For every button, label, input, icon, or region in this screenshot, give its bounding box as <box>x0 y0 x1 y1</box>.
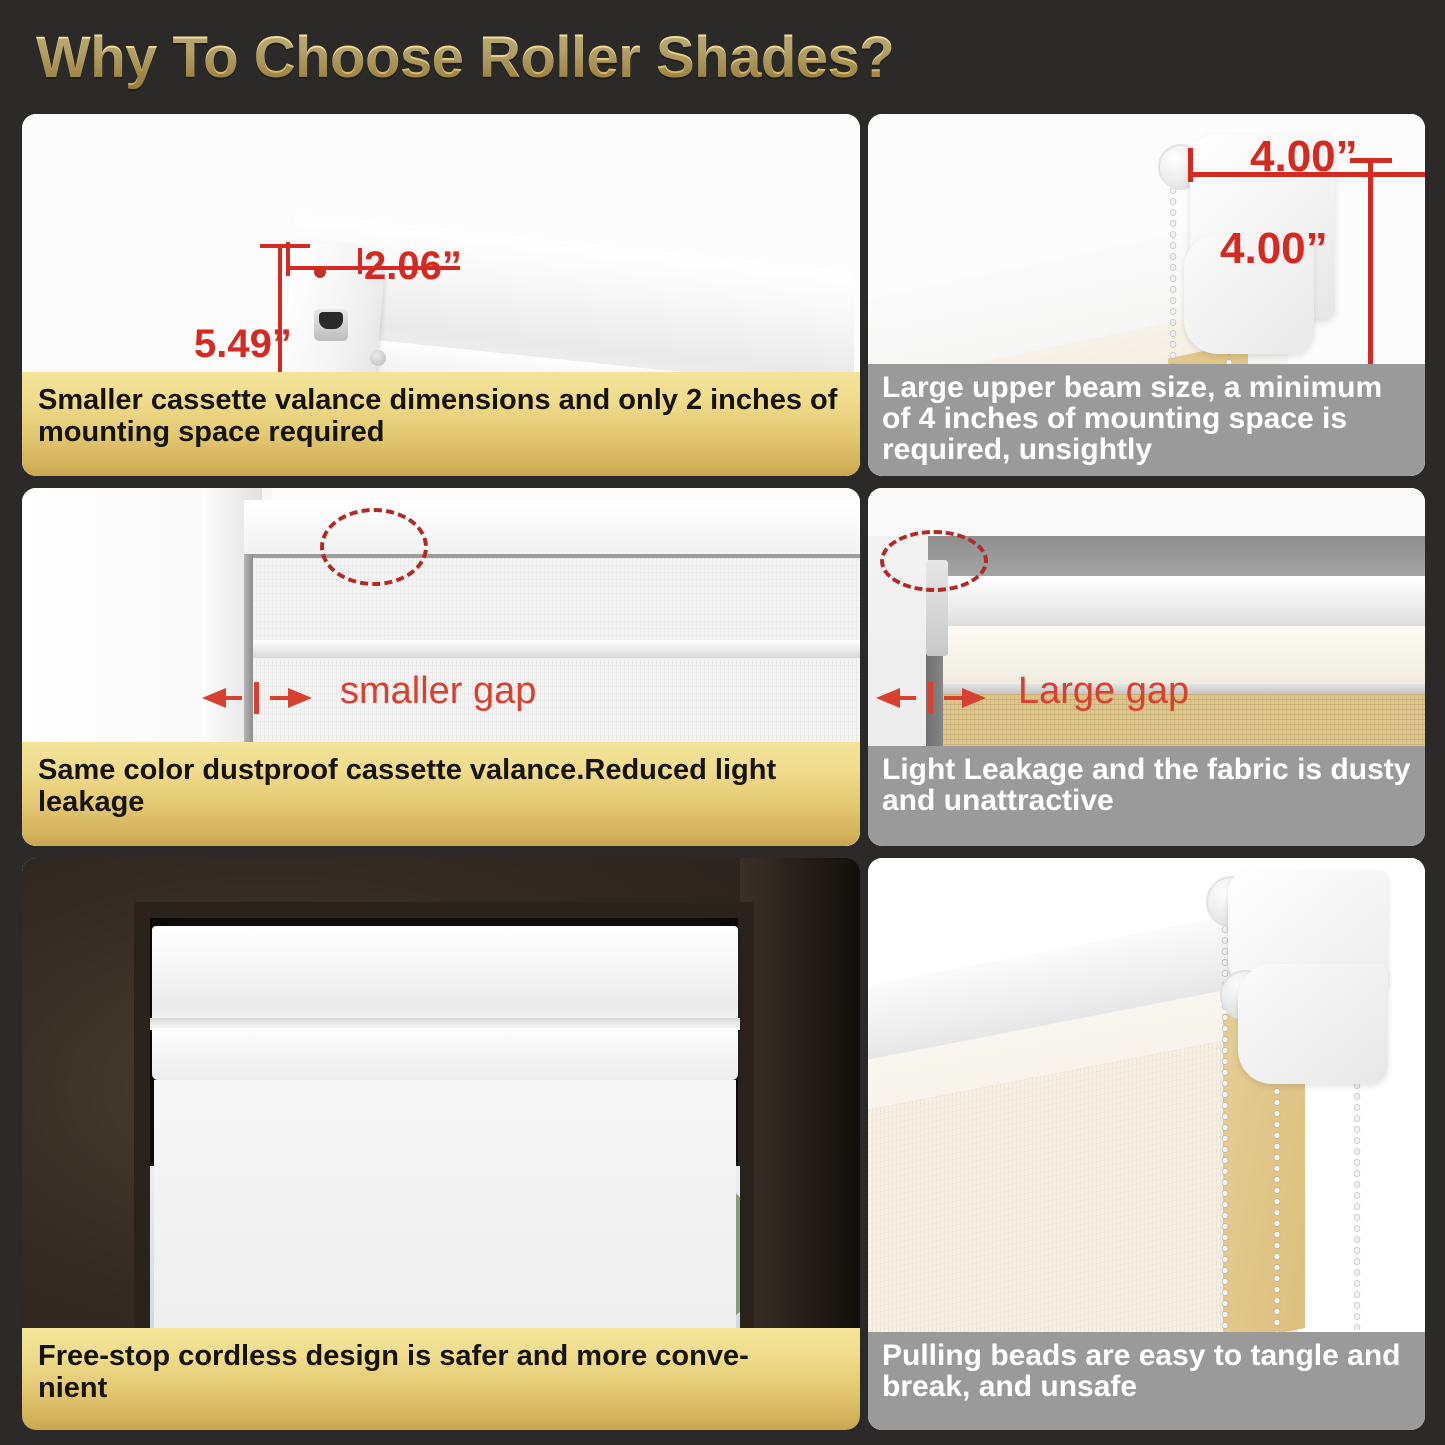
beam-height-label: 4.00” <box>1220 224 1328 274</box>
roller-tube <box>932 576 1425 628</box>
width-dimension-tick-right <box>358 248 362 274</box>
caption-free-stop-cordless-design: Free-stop cordless design is safer and m… <box>22 1328 860 1430</box>
panel-light-leakage-dusty-fabric: Large gap Light Leakage and the fabric i… <box>868 488 1425 846</box>
page-title: Why To Choose Roller Shades? <box>36 24 894 91</box>
panel-pulling-beads-tangle: Pulling beads are easy to tangle and bre… <box>868 858 1425 1430</box>
caption-same-color-dustproof-valance: Same color dustproof cassette valance.Re… <box>22 742 860 846</box>
ceiling-area <box>868 488 1425 536</box>
large-gap-label: Large gap <box>1018 670 1189 713</box>
cassette-valance <box>152 926 738 1024</box>
end-cap-slot <box>314 309 348 341</box>
caption-pulling-beads-tangle: Pulling beads are easy to tangle and bre… <box>868 1332 1425 1430</box>
smaller-gap-label: smaller gap <box>340 670 536 713</box>
width-dimension-label: 2.06” <box>364 244 462 289</box>
caption-large-upper-beam: Large upper beam size, a minimum of 4 in… <box>868 364 1425 476</box>
valance-rail <box>248 640 860 658</box>
end-cap-screw-mid <box>370 350 386 366</box>
height-dimension-tick-top <box>260 244 310 248</box>
height-dimension-label: 5.49” <box>194 322 292 367</box>
bead-chain-right <box>1352 1080 1362 1330</box>
mounting-bracket-lower <box>1238 964 1388 1084</box>
panel-large-upper-beam: 4.00” 4.00” Large upper beam size, a min… <box>868 114 1425 476</box>
beam-width-tick-left <box>1188 148 1193 182</box>
panel-smaller-cassette-valance: 2.06” 5.49” Smaller cassette valance dim… <box>22 114 860 476</box>
large-gap-arrows-icon <box>876 678 1026 718</box>
caption-smaller-cassette-valance: Smaller cassette valance dimensions and … <box>22 372 860 476</box>
caption-light-leakage-dusty-fabric: Light Leakage and the fabric is dusty an… <box>868 746 1425 846</box>
header-bar: Why To Choose Roller Shades? <box>0 0 1445 108</box>
panel-same-color-dustproof-valance: smaller gap Same color dustproof cassett… <box>22 488 860 846</box>
gap-highlight-ellipse-icon <box>320 508 428 586</box>
beam-width-label: 4.00” <box>1250 132 1358 182</box>
beam-height-tick-top <box>1350 158 1392 163</box>
smaller-gap-arrows-icon <box>202 678 352 718</box>
gap-highlight-ellipse-icon <box>880 530 988 592</box>
valance-lower-lip <box>152 1028 738 1080</box>
panel-free-stop-cordless-design: Free-stop cordless design is safer and m… <box>22 858 860 1430</box>
